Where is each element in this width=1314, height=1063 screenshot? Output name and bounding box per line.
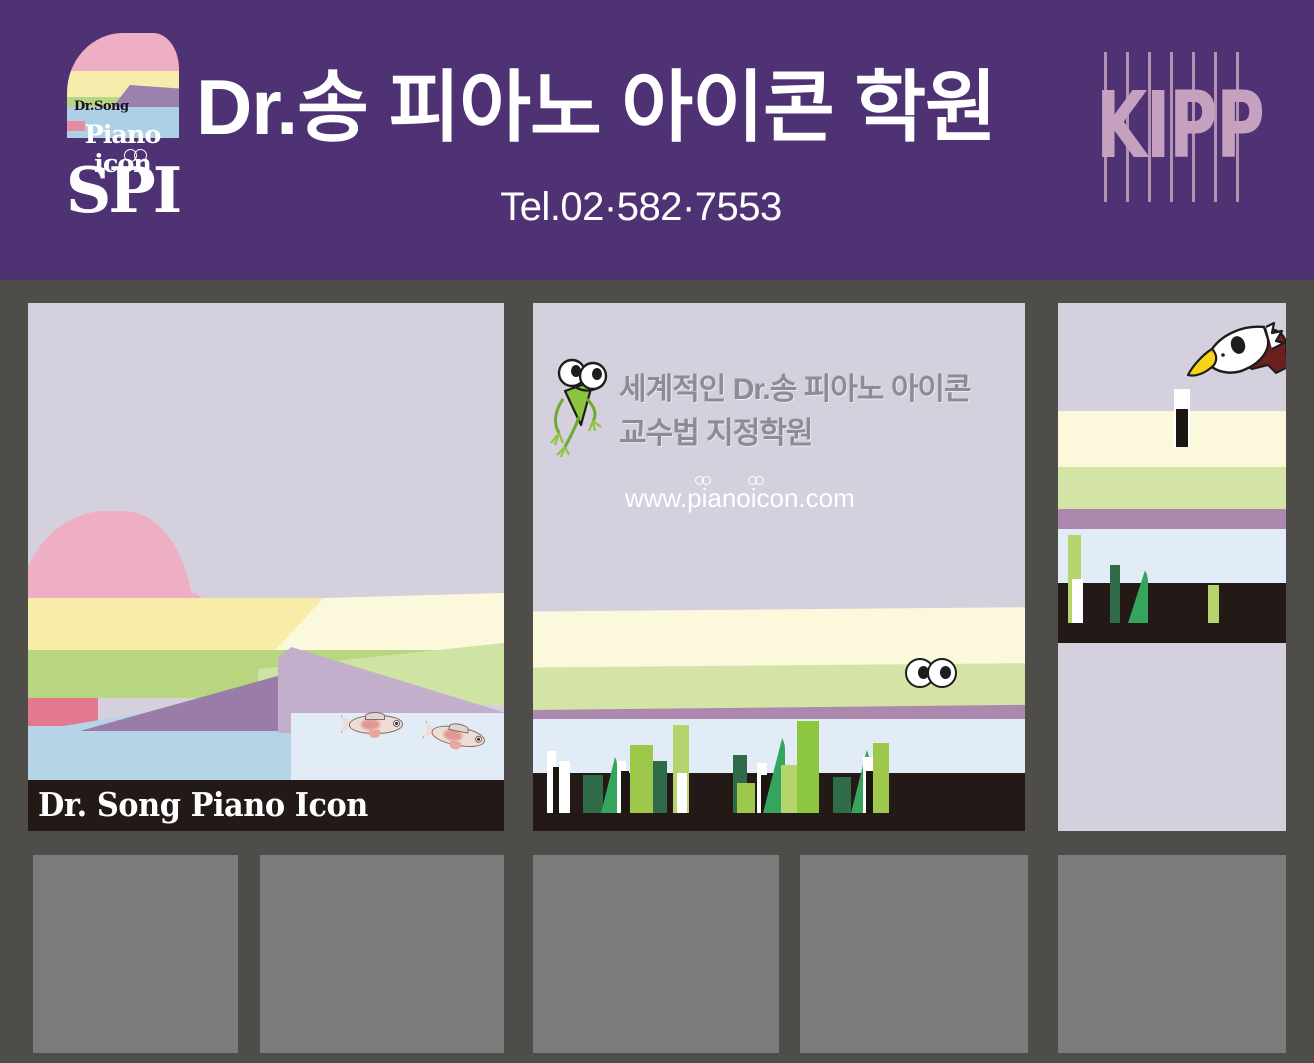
thumbnail-placeholder[interactable]: [260, 855, 504, 1053]
page-title: Dr.송 피아노 아이콘 학원: [196, 66, 1086, 148]
grass-bar: [653, 761, 667, 813]
lightgreen-band: [1058, 467, 1286, 511]
logo-spi-text: SPI: [56, 160, 189, 220]
url-text: www.pianoicon.com: [625, 483, 855, 513]
eagle-head-character: [1176, 321, 1286, 401]
mid-panel-heading-line1: 세계적인 Dr.송 피아노 아이콘: [619, 368, 1019, 412]
piano-key-black: [1176, 409, 1188, 447]
grass-bar: [781, 765, 797, 813]
gallery-panel-middle[interactable]: 세계적인 Dr.송 피아노 아이콘 교수법 지정학원 www.pianoicon…: [533, 303, 1025, 831]
logo-drsong-text: Dr.Song: [74, 99, 129, 114]
eyes-character: [905, 658, 959, 692]
blue-band: [28, 726, 291, 784]
grass-bar: [1110, 565, 1120, 623]
phone-number: Tel.02·582·7553: [196, 185, 1086, 230]
eagle-head-icon: [1176, 321, 1286, 401]
thumbnail-placeholder[interactable]: [800, 855, 1028, 1053]
kipp-logo: KIPP: [1096, 52, 1256, 202]
eyes-icon: [748, 476, 768, 485]
fish-icon: [341, 711, 413, 741]
kipp-logo-text: KIPP: [1096, 80, 1211, 172]
frog-sprout-character: [545, 355, 623, 465]
left-panel-banner-text: Dr. Song Piano Icon: [38, 785, 368, 824]
website-url[interactable]: www.pianoicon.com: [625, 483, 855, 514]
grass-bar: [797, 721, 819, 813]
signboard-canvas: Dr.Song Piano icon SPI Dr.송 피아노 아이콘 학원 T…: [0, 0, 1314, 1063]
eyes-icon: [695, 476, 715, 485]
grass-bar: [583, 775, 603, 813]
frog-sprout-icon: [545, 355, 623, 465]
cream-band: [1058, 411, 1286, 469]
grass-bar: [737, 783, 755, 813]
soil-band: [1058, 583, 1286, 643]
piano-key-white: [677, 773, 687, 813]
logo-band-pink: [67, 33, 179, 71]
mid-panel-heading: 세계적인 Dr.송 피아노 아이콘 교수법 지정학원: [619, 368, 1019, 456]
grass-bar: [833, 777, 851, 813]
gallery-panel-right[interactable]: [1058, 303, 1286, 831]
piano-key-black: [621, 771, 629, 813]
rose-band: [28, 698, 98, 726]
water-band: [1058, 529, 1286, 587]
thumbnail-placeholder[interactable]: [33, 855, 238, 1053]
thumbnail-placeholder[interactable]: [533, 855, 779, 1053]
left-panel-banner: Dr. Song Piano Icon: [28, 780, 504, 831]
piano-icon-logo: Dr.Song Piano icon SPI: [50, 25, 195, 245]
piano-key-white: [1072, 579, 1083, 623]
header-banner: Dr.Song Piano icon SPI Dr.송 피아노 아이콘 학원 T…: [0, 0, 1314, 280]
grass-bar: [873, 743, 889, 813]
piano-key-white: [559, 761, 570, 813]
grass-bar: [630, 745, 653, 813]
gallery-panel-left[interactable]: Dr. Song Piano Icon: [28, 303, 504, 831]
mid-panel-heading-line2: 교수법 지정학원: [619, 412, 1019, 456]
mauve-band: [1058, 509, 1286, 531]
thumbnail-placeholder[interactable]: [1058, 855, 1286, 1053]
grass-bar: [1208, 585, 1219, 623]
